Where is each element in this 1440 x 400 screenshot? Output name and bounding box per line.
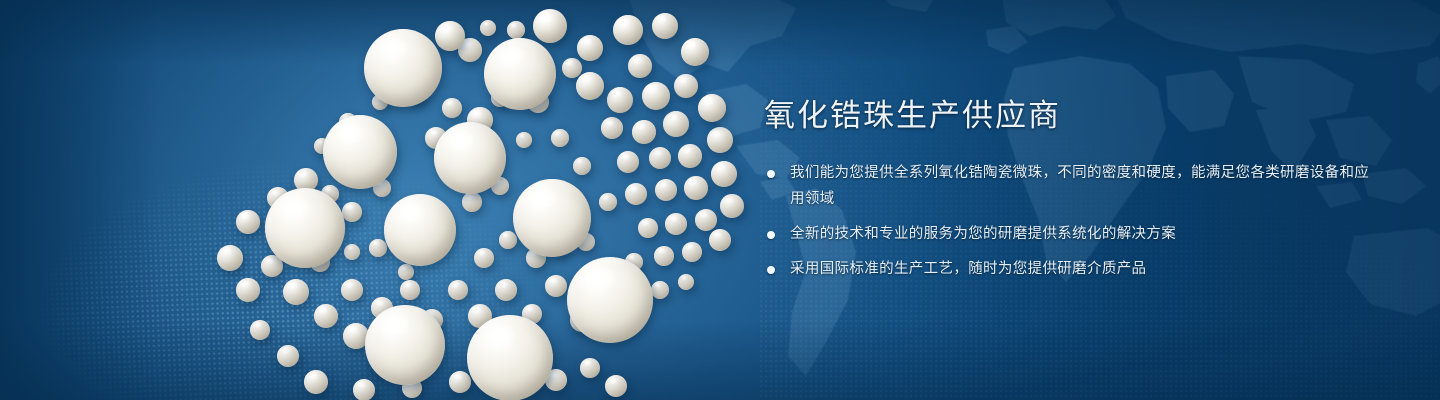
ceramic-bead bbox=[562, 58, 582, 78]
ceramic-bead bbox=[711, 161, 737, 187]
ceramic-bead bbox=[484, 38, 556, 110]
ceramic-bead bbox=[236, 278, 260, 302]
ceramic-bead bbox=[250, 320, 270, 340]
ceramic-bead bbox=[567, 257, 653, 343]
ceramic-bead bbox=[442, 98, 462, 118]
ceramic-bead bbox=[495, 279, 517, 301]
bullet-dot-icon bbox=[767, 266, 775, 274]
ceramic-bead bbox=[576, 72, 604, 100]
ceramic-bead bbox=[507, 21, 525, 39]
ceramic-bead bbox=[605, 375, 627, 397]
feature-list-item: 我们能为您提供全系列氧化锆陶瓷微珠，不同的密度和硬度，能满足您各类研磨设备和应用… bbox=[764, 160, 1374, 212]
hero-banner: 氧化锆珠生产供应商 我们能为您提供全系列氧化锆陶瓷微珠，不同的密度和硬度，能满足… bbox=[0, 0, 1440, 400]
ceramic-bead bbox=[304, 370, 328, 394]
ceramic-bead bbox=[580, 358, 600, 378]
ceramic-bead bbox=[217, 245, 243, 271]
ceramic-bead bbox=[398, 264, 414, 280]
ceramic-bead bbox=[625, 183, 647, 205]
ceramic-bead bbox=[277, 345, 299, 367]
ceramic-bead bbox=[577, 35, 603, 61]
ceramic-bead bbox=[651, 281, 669, 299]
ceramic-bead bbox=[698, 94, 726, 122]
ceramic-bead bbox=[448, 280, 468, 300]
ceramic-bead bbox=[314, 304, 338, 328]
ceramic-bead bbox=[707, 127, 733, 153]
ceramic-bead bbox=[674, 74, 698, 98]
ceramic-bead bbox=[649, 147, 671, 169]
ceramic-bead bbox=[695, 209, 717, 231]
bullet-dot-icon bbox=[767, 231, 775, 239]
feature-text: 采用国际标准的生产工艺，随时为您提供研磨介质产品 bbox=[790, 261, 1146, 277]
ceramic-bead bbox=[435, 21, 465, 51]
ceramic-bead bbox=[684, 176, 708, 200]
ceramic-bead bbox=[617, 151, 639, 173]
ceramic-bead bbox=[638, 218, 658, 238]
ceramic-bead bbox=[573, 157, 591, 175]
ceramic-bead bbox=[613, 15, 643, 45]
ceramic-bead bbox=[365, 305, 445, 385]
ceramic-bead bbox=[467, 315, 553, 400]
ceramic-bead bbox=[599, 193, 617, 211]
bullet-dot-icon bbox=[767, 170, 775, 178]
feature-list-item: 全新的技术和专业的服务为您的研磨提供系统化的解决方案 bbox=[764, 221, 1374, 247]
ceramic-bead bbox=[663, 111, 689, 137]
ceramic-bead bbox=[480, 20, 496, 36]
ceramic-bead bbox=[353, 379, 375, 400]
ceramic-bead bbox=[236, 210, 260, 234]
feature-text: 全新的技术和专业的服务为您的研磨提供系统化的解决方案 bbox=[790, 226, 1176, 242]
ceramic-bead bbox=[681, 38, 709, 66]
ceramic-bead bbox=[665, 213, 687, 235]
ceramic-bead bbox=[720, 194, 744, 218]
ceramic-bead bbox=[516, 132, 532, 148]
ceramic-bead bbox=[607, 87, 633, 113]
ceramic-bead bbox=[632, 120, 656, 144]
ceramic-bead bbox=[384, 194, 456, 266]
ceramic-bead bbox=[434, 122, 506, 194]
ceramic-bead bbox=[642, 82, 670, 110]
ceramic-bead bbox=[462, 192, 482, 212]
ceramic-bead bbox=[551, 129, 569, 147]
ceramic-bead bbox=[400, 280, 420, 300]
ceramic-bead bbox=[533, 9, 567, 43]
ceramic-bead bbox=[513, 179, 591, 257]
ceramic-bead bbox=[678, 144, 702, 168]
banner-headline: 氧化锆珠生产供应商 bbox=[764, 98, 1374, 134]
ceramic-bead bbox=[545, 275, 567, 297]
ceramic-bead bbox=[474, 248, 494, 268]
ceramic-bead bbox=[344, 244, 360, 260]
ceramic-bead bbox=[654, 246, 674, 266]
ceramic-bead bbox=[709, 229, 731, 251]
ceramic-bead bbox=[265, 188, 345, 268]
ceramic-bead bbox=[682, 242, 702, 262]
ceramic-bead bbox=[678, 274, 694, 290]
banner-copy: 氧化锆珠生产供应商 我们能为您提供全系列氧化锆陶瓷微珠，不同的密度和硬度，能满足… bbox=[764, 98, 1374, 282]
ceramic-bead bbox=[323, 115, 397, 189]
ceramic-bead bbox=[652, 13, 678, 39]
ceramic-bead bbox=[364, 29, 442, 107]
ceramic-bead bbox=[342, 202, 362, 222]
ceramic-bead bbox=[628, 54, 652, 78]
ceramic-bead bbox=[601, 117, 623, 139]
ceramic-bead bbox=[283, 279, 309, 305]
feature-list-item: 采用国际标准的生产工艺，随时为您提供研磨介质产品 bbox=[764, 256, 1374, 282]
feature-list: 我们能为您提供全系列氧化锆陶瓷微珠，不同的密度和硬度，能满足您各类研磨设备和应用… bbox=[764, 160, 1374, 282]
ceramic-bead bbox=[499, 231, 517, 249]
ceramic-bead bbox=[369, 239, 387, 257]
ceramic-bead bbox=[449, 371, 471, 393]
feature-text: 我们能为您提供全系列氧化锆陶瓷微珠，不同的密度和硬度，能满足您各类研磨设备和应用… bbox=[790, 165, 1369, 207]
ceramic-bead bbox=[655, 179, 677, 201]
ceramic-bead bbox=[341, 279, 363, 301]
